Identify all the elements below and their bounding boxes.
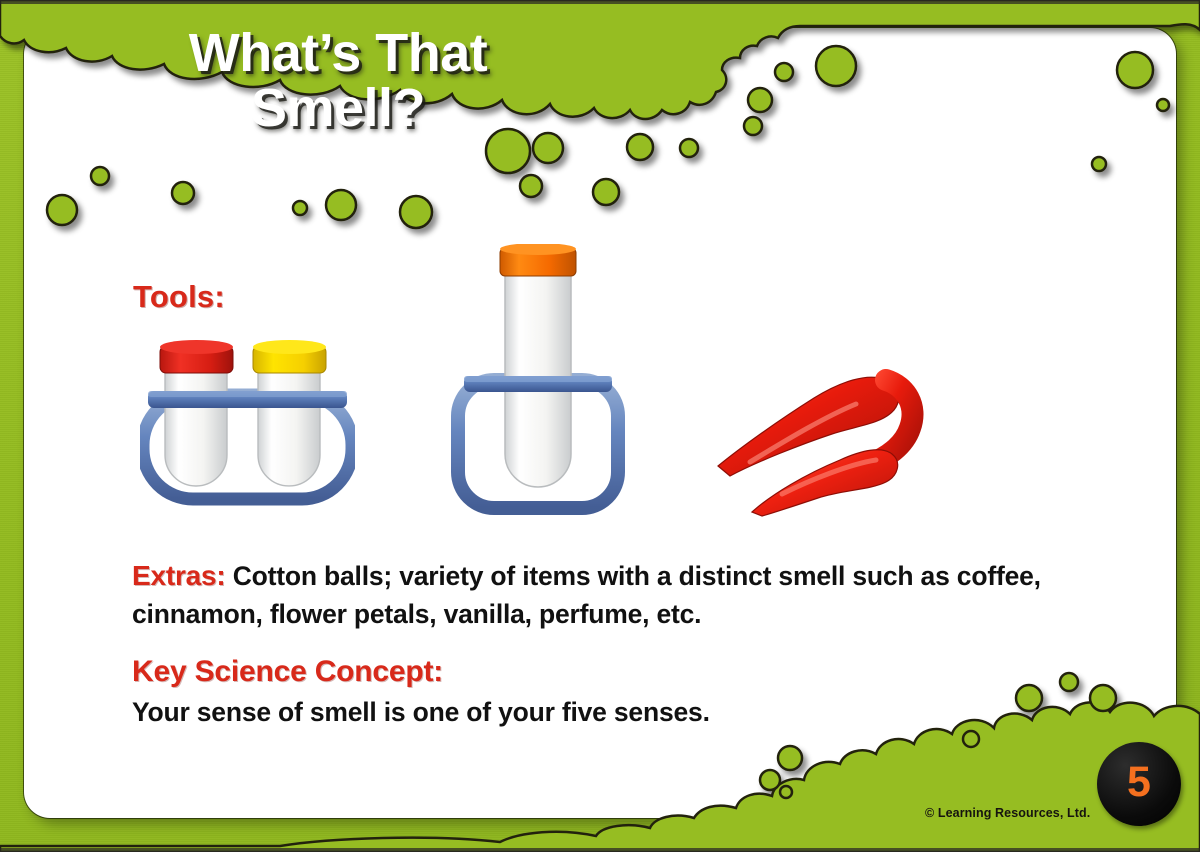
copyright-notice: © Learning Resources, Ltd. (925, 806, 1090, 820)
two-test-tubes-in-rack-icon (140, 339, 355, 507)
page-title-line2: Smell? (128, 81, 548, 136)
single-test-tube-in-rack-icon (430, 244, 645, 519)
extras-label: Extras: (132, 560, 226, 591)
activity-card: What’s That Smell? Tools: (0, 0, 1200, 852)
key-science-concept-heading: Key Science Concept: (132, 655, 443, 689)
red-tweezers-icon (710, 364, 935, 519)
card-top-edge (0, 0, 1200, 4)
key-science-concept-body: Your sense of smell is one of your five … (132, 697, 710, 728)
page-title: What’s That Smell? (128, 26, 548, 136)
card-bottom-edge (0, 848, 1200, 852)
tools-image-row (130, 234, 950, 534)
extras-block: Extras: Cotton balls; variety of items w… (132, 556, 1092, 633)
page-title-line1: What’s That (189, 23, 488, 83)
page-number-value: 5 (1127, 761, 1151, 804)
extras-text: Cotton balls; variety of items with a di… (132, 561, 1041, 629)
page-number-badge: 5 (1097, 742, 1181, 826)
